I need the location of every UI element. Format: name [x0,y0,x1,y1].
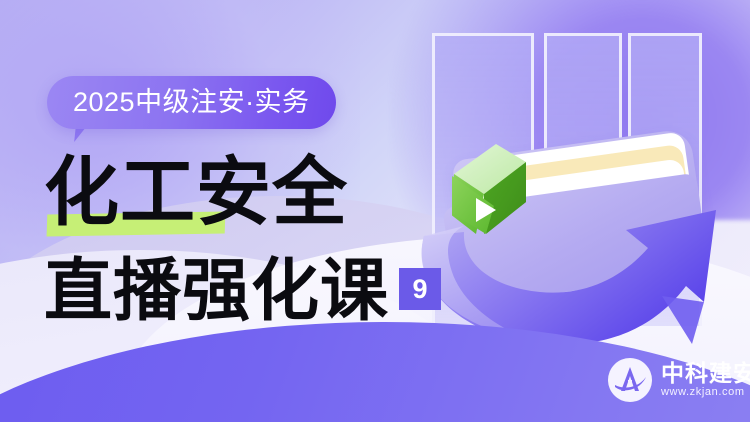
brand-logo: 中科建安 www.zkjan.com [608,358,750,402]
brand-url: www.zkjan.com [661,387,750,398]
page-title-line1: 化工安全 [44,155,348,230]
episode-number-badge: 9 [399,268,441,310]
zkjan-circle-mark [608,358,652,402]
episode-number-label: 9 [412,276,427,303]
course-promo-banner: 2025中级注安·实务 化工安全 直播强化课 9 中科建安 www.zkjan.… [0,0,750,422]
brand-logo-text: 中科建安 www.zkjan.com [661,362,750,398]
page-title-line2: 直播强化课 [44,257,389,325]
logo-glyph-icon [608,358,652,402]
brand-name: 中科建安 [661,362,750,385]
green-play-cube [452,140,544,236]
course-category-label: 2025中级注安·实务 [73,89,310,116]
course-category-badge: 2025中级注安·实务 [47,76,336,129]
